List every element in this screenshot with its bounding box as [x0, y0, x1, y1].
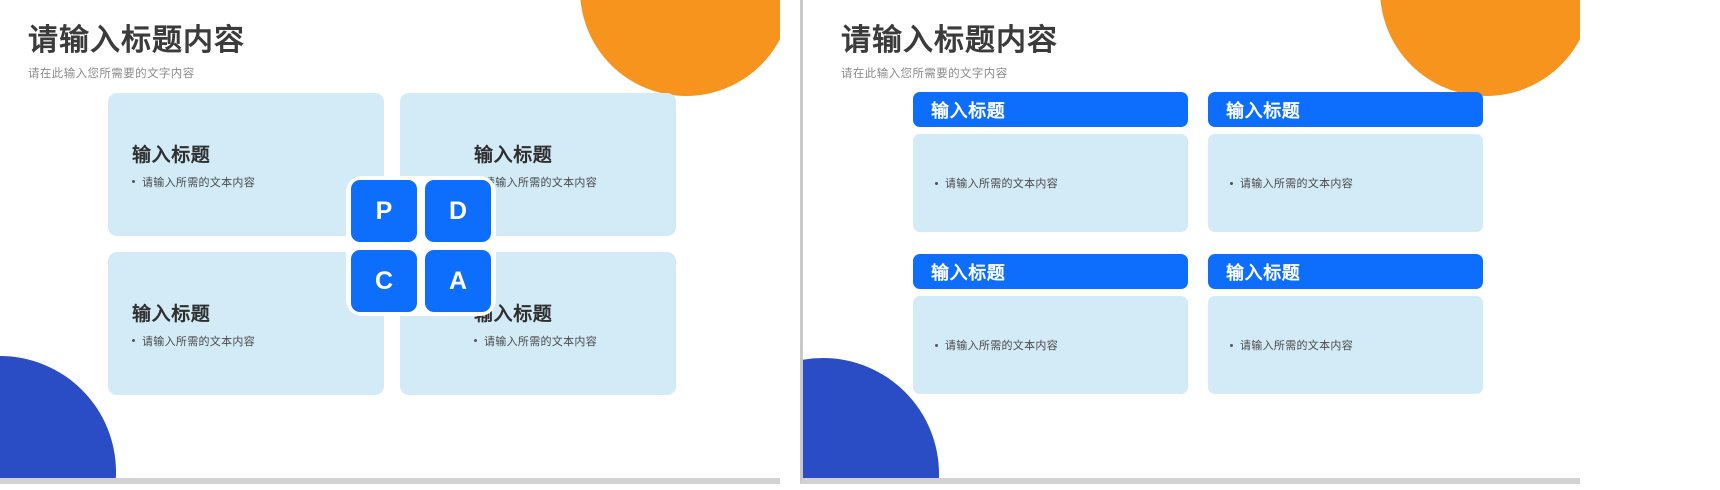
header-card-bottom-right[interactable]: 输入标题 请输入所需的文本内容 [1208, 254, 1483, 394]
header-card-bullet: 请输入所需的文本内容 [1230, 175, 1353, 191]
orange-circle-decoration [1380, 0, 1580, 96]
quadrant-bullet: 请输入所需的文本内容 [132, 174, 255, 190]
pdca-tile-p[interactable]: P [351, 180, 417, 242]
quadrant-bullet: 请输入所需的文本内容 [132, 333, 255, 349]
quadrant-title: 输入标题 [474, 140, 552, 167]
slide-header: 请输入标题内容 请在此输入您所需要的文字内容 [28, 24, 245, 81]
slide-header: 请输入标题内容 请在此输入您所需要的文字内容 [841, 24, 1058, 81]
pdca-center-cluster: P D C A [346, 176, 496, 316]
header-card-title: 输入标题 [1208, 254, 1483, 289]
header-card-top-right[interactable]: 输入标题 请输入所需的文本内容 [1208, 92, 1483, 232]
pdca-tile-a[interactable]: A [425, 250, 491, 312]
blue-circle-decoration [0, 356, 116, 484]
page-subtitle: 请在此输入您所需要的文字内容 [28, 65, 245, 81]
header-card-title: 输入标题 [1208, 92, 1483, 127]
page-title: 请输入标题内容 [28, 24, 245, 59]
orange-circle-decoration [580, 0, 780, 96]
header-card-title: 输入标题 [913, 92, 1188, 127]
header-card-top-left[interactable]: 输入标题 请输入所需的文本内容 [913, 92, 1188, 232]
header-card-bullet: 请输入所需的文本内容 [935, 175, 1058, 191]
header-card-body: 请输入所需的文本内容 [1208, 296, 1483, 394]
header-card-bullet: 请输入所需的文本内容 [1230, 337, 1353, 353]
slide-deck: 请输入标题内容 请在此输入您所需要的文字内容 输入标题 请输入所需的文本内容 输… [0, 0, 1720, 490]
four-card-grid: 输入标题 请输入所需的文本内容 输入标题 请输入所需的文本内容 输入标题 请输入… [913, 92, 1483, 394]
header-card-bullet: 请输入所需的文本内容 [935, 337, 1058, 353]
quadrant-card-top-left[interactable]: 输入标题 请输入所需的文本内容 [108, 93, 384, 236]
quadrant-title: 输入标题 [132, 140, 210, 167]
slide-pdca: 请输入标题内容 请在此输入您所需要的文字内容 输入标题 请输入所需的文本内容 输… [0, 0, 780, 484]
page-title: 请输入标题内容 [841, 24, 1058, 59]
pdca-tile-d[interactable]: D [425, 180, 491, 242]
pdca-diagram: 输入标题 请输入所需的文本内容 输入标题 请输入所需的文本内容 输入标题 请输入… [108, 93, 676, 395]
slide-four-cards: 请输入标题内容 请在此输入您所需要的文字内容 输入标题 请输入所需的文本内容 输… [800, 0, 1580, 484]
slide-separator [780, 0, 800, 490]
quadrant-bullet: 请输入所需的文本内容 [474, 333, 597, 349]
header-card-bottom-left[interactable]: 输入标题 请输入所需的文本内容 [913, 254, 1188, 394]
pdca-tile-c[interactable]: C [351, 250, 417, 312]
page-subtitle: 请在此输入您所需要的文字内容 [841, 65, 1058, 81]
header-card-title: 输入标题 [913, 254, 1188, 289]
header-card-body: 请输入所需的文本内容 [913, 296, 1188, 394]
header-card-body: 请输入所需的文本内容 [913, 134, 1188, 232]
quadrant-title: 输入标题 [132, 299, 210, 326]
header-card-body: 请输入所需的文本内容 [1208, 134, 1483, 232]
quadrant-card-bottom-left[interactable]: 输入标题 请输入所需的文本内容 [108, 252, 384, 395]
